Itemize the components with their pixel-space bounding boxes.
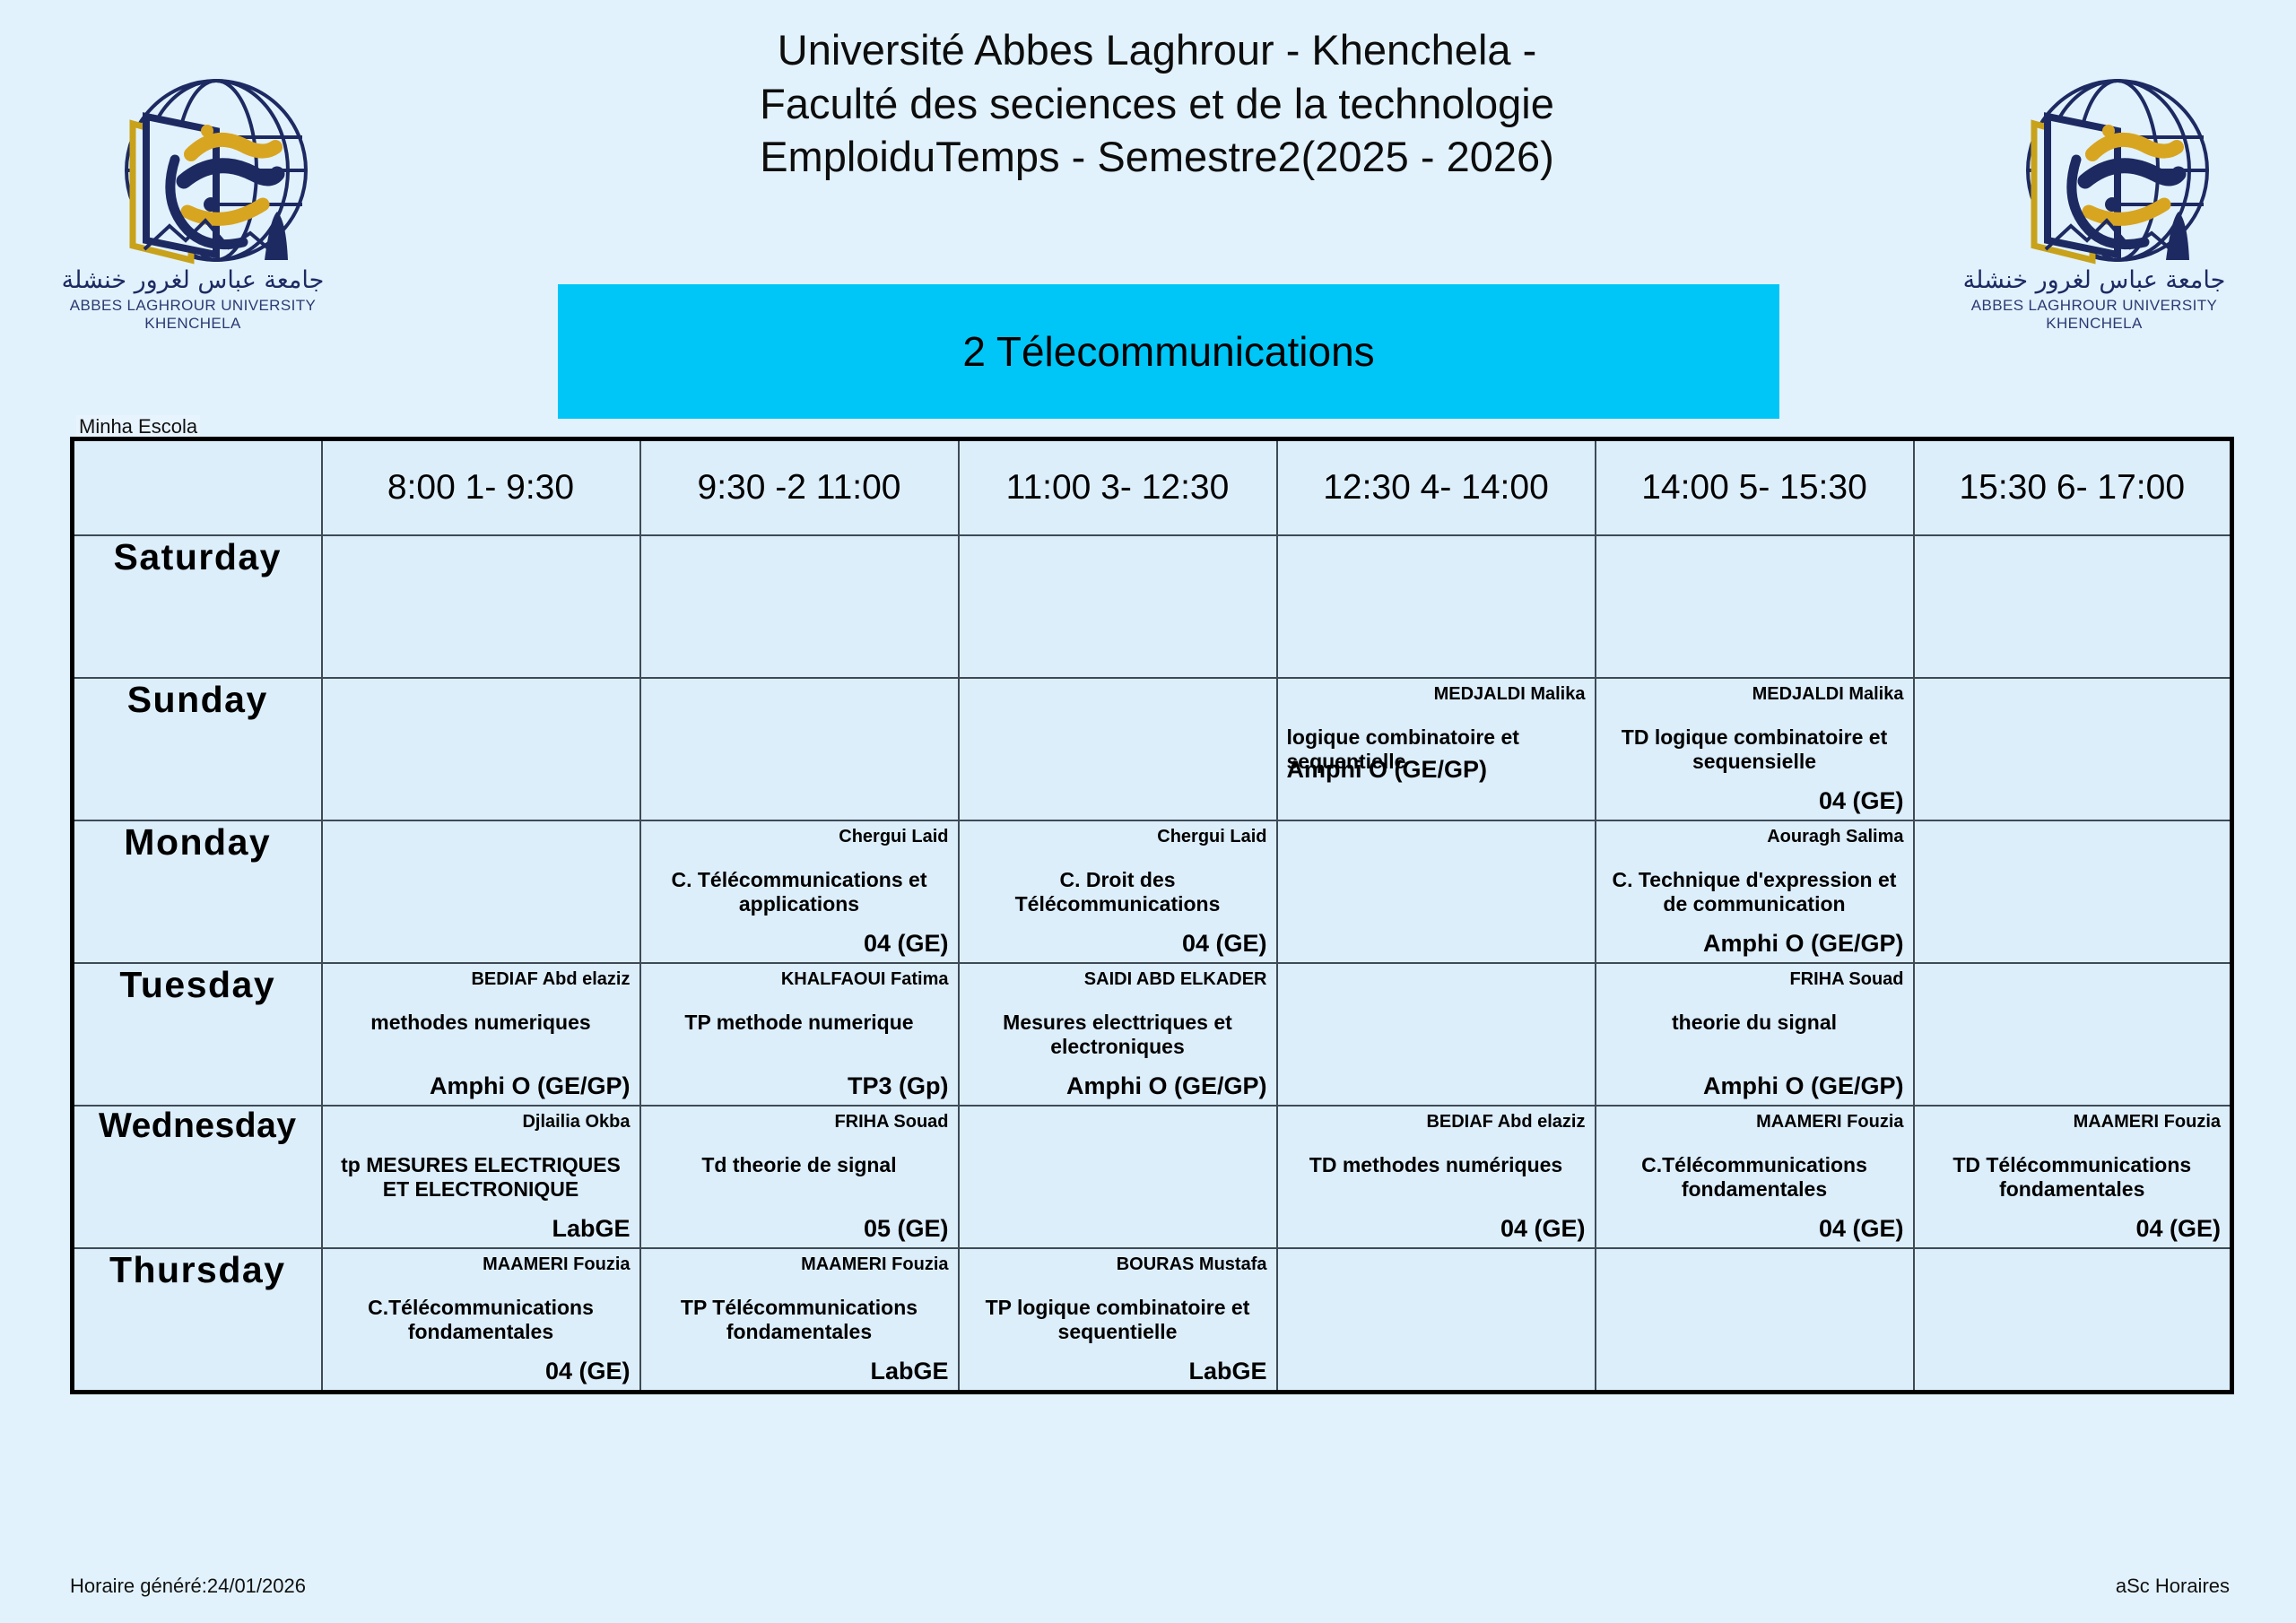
lesson-room: Amphi O (GE/GP) — [1605, 1073, 1904, 1100]
logo-english-text: ABBES LAGHROUR UNIVERSITY KHENCHELA — [40, 297, 345, 333]
title-line-3: EmploiduTemps - Semestre2(2025 - 2026) — [574, 130, 1740, 184]
timetable-cell[interactable] — [1914, 820, 2232, 963]
timetable-cell[interactable]: FRIHA SouadTd theorie de signal05 (GE) — [640, 1106, 959, 1248]
generated-date: Horaire généré:24/01/2026 — [70, 1575, 306, 1598]
lesson-subject: TP methode numerique — [650, 1011, 949, 1035]
timetable-cell[interactable] — [959, 535, 1277, 678]
timetable-cell[interactable] — [1277, 535, 1596, 678]
university-logo-right: جامعة عباس لغرور خنشلة ABBES LAGHROUR UN… — [1942, 70, 2247, 330]
lesson-subject: theorie du signal — [1605, 1011, 1904, 1035]
lesson-teacher — [1287, 827, 1586, 848]
timetable-cell[interactable] — [1914, 678, 2232, 820]
timetable-cell[interactable] — [1277, 1248, 1596, 1393]
lesson-room: 04 (GE) — [650, 931, 949, 958]
lesson-room: Amphi O (GE/GP) — [969, 1073, 1267, 1100]
timetable-cell[interactable]: MEDJALDI MalikaTD logique combinatoire e… — [1596, 678, 1914, 820]
timetable-cell[interactable] — [1596, 535, 1914, 678]
title-line-1: Université Abbes Laghrour - Khenchela - — [574, 23, 1740, 77]
timetable-cell[interactable]: MAAMERI FouziaTD Télécommunications fond… — [1914, 1106, 2232, 1248]
lesson-room: TP3 (Gp) — [650, 1073, 949, 1100]
timetable-cell[interactable] — [959, 1106, 1277, 1248]
lesson-room: LabGE — [332, 1216, 631, 1243]
timetable-cell[interactable] — [1914, 535, 2232, 678]
lesson-room: 04 (GE) — [1605, 788, 1904, 815]
lesson-subject: C.Télécommunications fondamentales — [1605, 1153, 1904, 1202]
timetable-cell[interactable]: BOURAS MustafaTP logique combinatoire et… — [959, 1248, 1277, 1393]
lesson-room: LabGE — [650, 1358, 949, 1385]
time-slot-header: 14:00 5- 15:30 — [1596, 439, 1914, 536]
lesson-teacher — [1924, 1254, 2222, 1276]
timetable-cell[interactable]: Djlailia Okbatp MESURES ELECTRIQUES ET E… — [322, 1106, 640, 1248]
lesson-teacher — [332, 542, 631, 563]
timetable-cell[interactable] — [959, 678, 1277, 820]
timetable-cell[interactable] — [1277, 963, 1596, 1106]
day-label-tuesday: Tuesday — [73, 963, 322, 1106]
time-slot-header: 12:30 4- 14:00 — [1277, 439, 1596, 536]
lesson-teacher — [969, 542, 1267, 563]
timetable-row: WednesdayDjlailia Okbatp MESURES ELECTRI… — [73, 1106, 2232, 1248]
software-credit: aSc Horaires — [2116, 1575, 2230, 1598]
university-globe-book-logo-icon — [40, 70, 345, 272]
timetable-row: SundayMEDJALDI Malikalogique combinatoir… — [73, 678, 2232, 820]
logo-arabic-text: جامعة عباس لغرور خنشلة — [40, 266, 345, 294]
lesson-room: Amphi O (GE/GP) — [1287, 757, 1586, 784]
day-label-wednesday: Wednesday — [73, 1106, 322, 1248]
day-label-monday: Monday — [73, 820, 322, 963]
time-slot-header: 9:30 -2 11:00 — [640, 439, 959, 536]
lesson-teacher — [1605, 542, 1904, 563]
school-label: Minha Escola — [76, 415, 200, 438]
lesson-subject: C.Télécommunications fondamentales — [332, 1296, 631, 1344]
lesson-teacher: MAAMERI Fouzia — [332, 1254, 631, 1276]
lesson-subject: methodes numeriques — [332, 1011, 631, 1035]
time-slot-header: 8:00 1- 9:30 — [322, 439, 640, 536]
timetable-cell[interactable]: Chergui LaidC. Droit des Télécommunicati… — [959, 820, 1277, 963]
timetable-cell[interactable] — [1914, 1248, 2232, 1393]
timetable-cell[interactable]: FRIHA Souadtheorie du signalAmphi O (GE/… — [1596, 963, 1914, 1106]
university-logo-left: جامعة عباس لغرور خنشلة ABBES LAGHROUR UN… — [40, 70, 345, 330]
lesson-teacher: Djlailia Okba — [332, 1112, 631, 1133]
timetable-cell[interactable]: MAAMERI FouziaC.Télécommunications fonda… — [1596, 1106, 1914, 1248]
time-slot-header: 11:00 3- 12:30 — [959, 439, 1277, 536]
timetable-cell[interactable]: SAIDI ABD ELKADERMesures electtriques et… — [959, 963, 1277, 1106]
lesson-room: Amphi O (GE/GP) — [332, 1073, 631, 1100]
timetable-cell[interactable]: MAAMERI FouziaTP Télécommunications fond… — [640, 1248, 959, 1393]
lesson-teacher: BEDIAF Abd elaziz — [332, 969, 631, 991]
timetable-row: Saturday — [73, 535, 2232, 678]
timetable-cell[interactable] — [1914, 963, 2232, 1106]
time-slot-header: 15:30 6- 17:00 — [1914, 439, 2232, 536]
lesson-teacher: MAAMERI Fouzia — [1924, 1112, 2222, 1133]
lesson-teacher — [1924, 542, 2222, 563]
lesson-teacher: MAAMERI Fouzia — [1605, 1112, 1904, 1133]
lesson-teacher: KHALFAOUI Fatima — [650, 969, 949, 991]
lesson-room: 04 (GE) — [332, 1358, 631, 1385]
lesson-subject: C. Télécommunications et applications — [650, 868, 949, 916]
lesson-teacher — [1287, 969, 1586, 991]
lesson-teacher: MEDJALDI Malika — [1287, 684, 1586, 706]
timetable-cell[interactable] — [1277, 820, 1596, 963]
timetable-cell[interactable]: Chergui LaidC. Télécommunications et app… — [640, 820, 959, 963]
timetable-cell[interactable]: Aouragh SalimaC. Technique d'expression … — [1596, 820, 1914, 963]
lesson-room: 04 (GE) — [1605, 1216, 1904, 1243]
lesson-room: 04 (GE) — [1287, 1216, 1586, 1243]
lesson-teacher: SAIDI ABD ELKADER — [969, 969, 1267, 991]
lesson-teacher — [1287, 1254, 1586, 1276]
lesson-teacher: Chergui Laid — [969, 827, 1267, 848]
timetable-cell[interactable]: BEDIAF Abd elazizTD methodes numériques0… — [1277, 1106, 1596, 1248]
timetable-corner-cell — [73, 439, 322, 536]
timetable-row: TuesdayBEDIAF Abd elazizmethodes numeriq… — [73, 963, 2232, 1106]
lesson-subject: C. Droit des Télécommunications — [969, 868, 1267, 916]
page-footer: Horaire généré:24/01/2026 aSc Horaires — [70, 1575, 2230, 1598]
lesson-teacher: FRIHA Souad — [650, 1112, 949, 1133]
lesson-subject: Mesures electtriques et electroniques — [969, 1011, 1267, 1059]
lesson-teacher: MEDJALDI Malika — [1605, 684, 1904, 706]
lesson-subject: TD methodes numériques — [1287, 1153, 1586, 1177]
timetable-cell[interactable] — [640, 678, 959, 820]
logo-english-text: ABBES LAGHROUR UNIVERSITY KHENCHELA — [1942, 297, 2247, 333]
lesson-subject: C. Technique d'expression et de communic… — [1605, 868, 1904, 916]
lesson-teacher — [332, 684, 631, 706]
lesson-subject: TP logique combinatoire et sequentielle — [969, 1296, 1267, 1344]
timetable-cell[interactable] — [322, 535, 640, 678]
page-title: Université Abbes Laghrour - Khenchela - … — [574, 23, 1740, 184]
lesson-teacher — [969, 684, 1267, 706]
timetable-cell[interactable] — [322, 820, 640, 963]
lesson-subject: TD Télécommunications fondamentales — [1924, 1153, 2222, 1202]
timetable-cell[interactable]: BEDIAF Abd elazizmethodes numeriquesAmph… — [322, 963, 640, 1106]
timetable-cell[interactable] — [1596, 1248, 1914, 1393]
lesson-room: Amphi O (GE/GP) — [1605, 931, 1904, 958]
day-label-sunday: Sunday — [73, 678, 322, 820]
lesson-teacher — [1924, 969, 2222, 991]
class-banner: 2 Télecommunications — [558, 284, 1779, 419]
timetable-row: ThursdayMAAMERI FouziaC.Télécommunicatio… — [73, 1248, 2232, 1393]
university-globe-book-logo-icon — [1942, 70, 2247, 272]
timetable-cell[interactable]: MEDJALDI Malikalogique combinatoire et s… — [1277, 678, 1596, 820]
lesson-teacher: BOURAS Mustafa — [969, 1254, 1267, 1276]
lesson-teacher — [969, 1112, 1267, 1133]
lesson-room: LabGE — [969, 1358, 1267, 1385]
lesson-room: 04 (GE) — [969, 931, 1267, 958]
lesson-teacher — [332, 827, 631, 848]
lesson-teacher: Chergui Laid — [650, 827, 949, 848]
day-label-thursday: Thursday — [73, 1248, 322, 1393]
timetable-cell[interactable] — [322, 678, 640, 820]
lesson-subject: Td theorie de signal — [650, 1153, 949, 1177]
timetable-cell[interactable]: MAAMERI FouziaC.Télécommunications fonda… — [322, 1248, 640, 1393]
lesson-teacher — [1924, 684, 2222, 706]
lesson-subject: tp MESURES ELECTRIQUES ET ELECTRONIQUE — [332, 1153, 631, 1202]
timetable-header-row: 8:00 1- 9:309:30 -2 11:0011:00 3- 12:301… — [73, 439, 2232, 536]
class-banner-label: 2 Télecommunications — [962, 327, 1374, 376]
timetable-row: MondayChergui LaidC. Télécommunications … — [73, 820, 2232, 963]
lesson-subject: TP Télécommunications fondamentales — [650, 1296, 949, 1344]
lesson-teacher — [1924, 827, 2222, 848]
page-header: جامعة عباس لغرور خنشلة ABBES LAGHROUR UN… — [0, 0, 2296, 269]
lesson-teacher: FRIHA Souad — [1605, 969, 1904, 991]
lesson-subject: TD logique combinatoire et sequensielle — [1605, 725, 1904, 774]
lesson-teacher — [1605, 1254, 1904, 1276]
lesson-teacher — [1287, 542, 1586, 563]
lesson-teacher: MAAMERI Fouzia — [650, 1254, 949, 1276]
timetable-cell[interactable] — [640, 535, 959, 678]
lesson-teacher — [650, 542, 949, 563]
lesson-teacher: BEDIAF Abd elaziz — [1287, 1112, 1586, 1133]
title-line-2: Faculté des seciences et de la technolog… — [574, 77, 1740, 131]
timetable-cell[interactable]: KHALFAOUI FatimaTP methode numeriqueTP3 … — [640, 963, 959, 1106]
day-label-saturday: Saturday — [73, 535, 322, 678]
lesson-teacher — [650, 684, 949, 706]
lesson-teacher: Aouragh Salima — [1605, 827, 1904, 848]
timetable: 8:00 1- 9:309:30 -2 11:0011:00 3- 12:301… — [70, 437, 2234, 1394]
lesson-room: 04 (GE) — [1924, 1216, 2222, 1243]
lesson-room: 05 (GE) — [650, 1216, 949, 1243]
logo-arabic-text: جامعة عباس لغرور خنشلة — [1942, 266, 2247, 294]
